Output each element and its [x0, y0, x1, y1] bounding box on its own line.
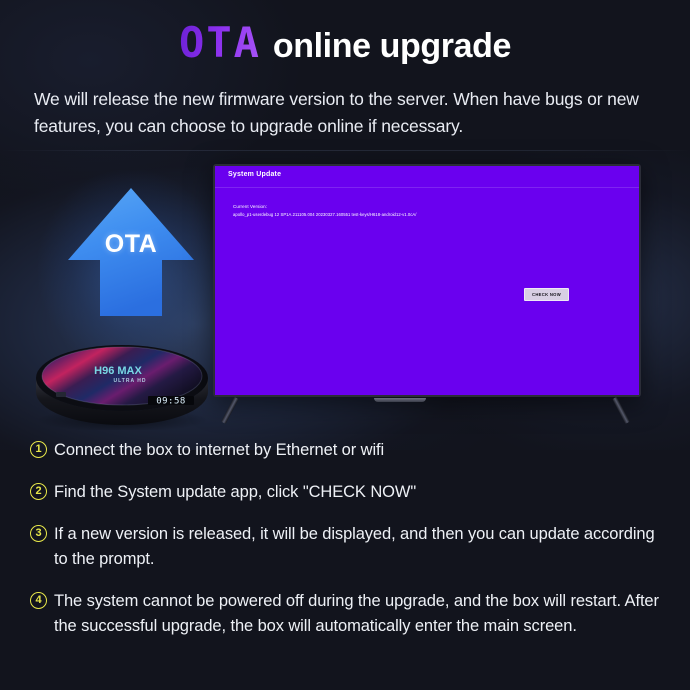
android-tv-box-device: 09:58 H96 MAX ULTRA HD — [30, 330, 208, 430]
step-text: The system cannot be powered off during … — [54, 589, 664, 639]
ota-upgrade-infographic: OTA online upgrade We will release the n… — [0, 0, 690, 690]
list-item: 2 Find the System update app, click "CHE… — [30, 480, 664, 505]
title-highlight-ota: OTA — [179, 18, 261, 67]
step-number-badge: 1 — [30, 441, 47, 458]
arrow-label-ota: OTA — [66, 230, 196, 259]
system-update-title: System Update — [228, 171, 281, 178]
tv-center-mount — [374, 398, 426, 402]
current-version-label: Current Version: — [233, 204, 267, 209]
check-now-button[interactable]: CHECK NOW — [524, 288, 569, 301]
instruction-steps-list: 1 Connect the box to internet by Etherne… — [30, 438, 664, 656]
title-rest: online upgrade — [273, 27, 511, 66]
device-clock-display: 09:58 — [156, 397, 186, 407]
step-text: Connect the box to internet by Ethernet … — [54, 438, 384, 463]
step-number-badge: 3 — [30, 525, 47, 542]
tv-box-graphic: 09:58 H96 MAX ULTRA HD — [30, 330, 208, 430]
step-text: If a new version is released, it will be… — [54, 522, 664, 572]
ota-arrow-illustration: OTA — [66, 186, 196, 318]
television: System Update Current Version: apollo_p1… — [213, 164, 641, 397]
page-subtitle: We will release the new firmware version… — [34, 86, 664, 140]
tv-base — [213, 398, 641, 402]
list-item: 1 Connect the box to internet by Etherne… — [30, 438, 664, 463]
page-title: OTA online upgrade — [0, 18, 690, 67]
list-item: 3 If a new version is released, it will … — [30, 522, 664, 572]
step-text: Find the System update app, click "CHECK… — [54, 480, 416, 505]
current-version-value: apollo_p1-userdebug 12 SP1A.211105.004 2… — [233, 212, 633, 217]
page-header: OTA online upgrade — [0, 18, 690, 67]
step-number-badge: 2 — [30, 483, 47, 500]
device-brand-label: H96 MAX — [94, 365, 142, 377]
step-number-badge: 4 — [30, 592, 47, 609]
device-subbrand-label: ULTRA HD — [114, 378, 147, 384]
header-divider — [0, 150, 690, 151]
list-item: 4 The system cannot be powered off durin… — [30, 589, 664, 639]
system-update-titlebar: System Update — [215, 166, 639, 188]
tv-screen: System Update Current Version: apollo_p1… — [215, 166, 639, 395]
